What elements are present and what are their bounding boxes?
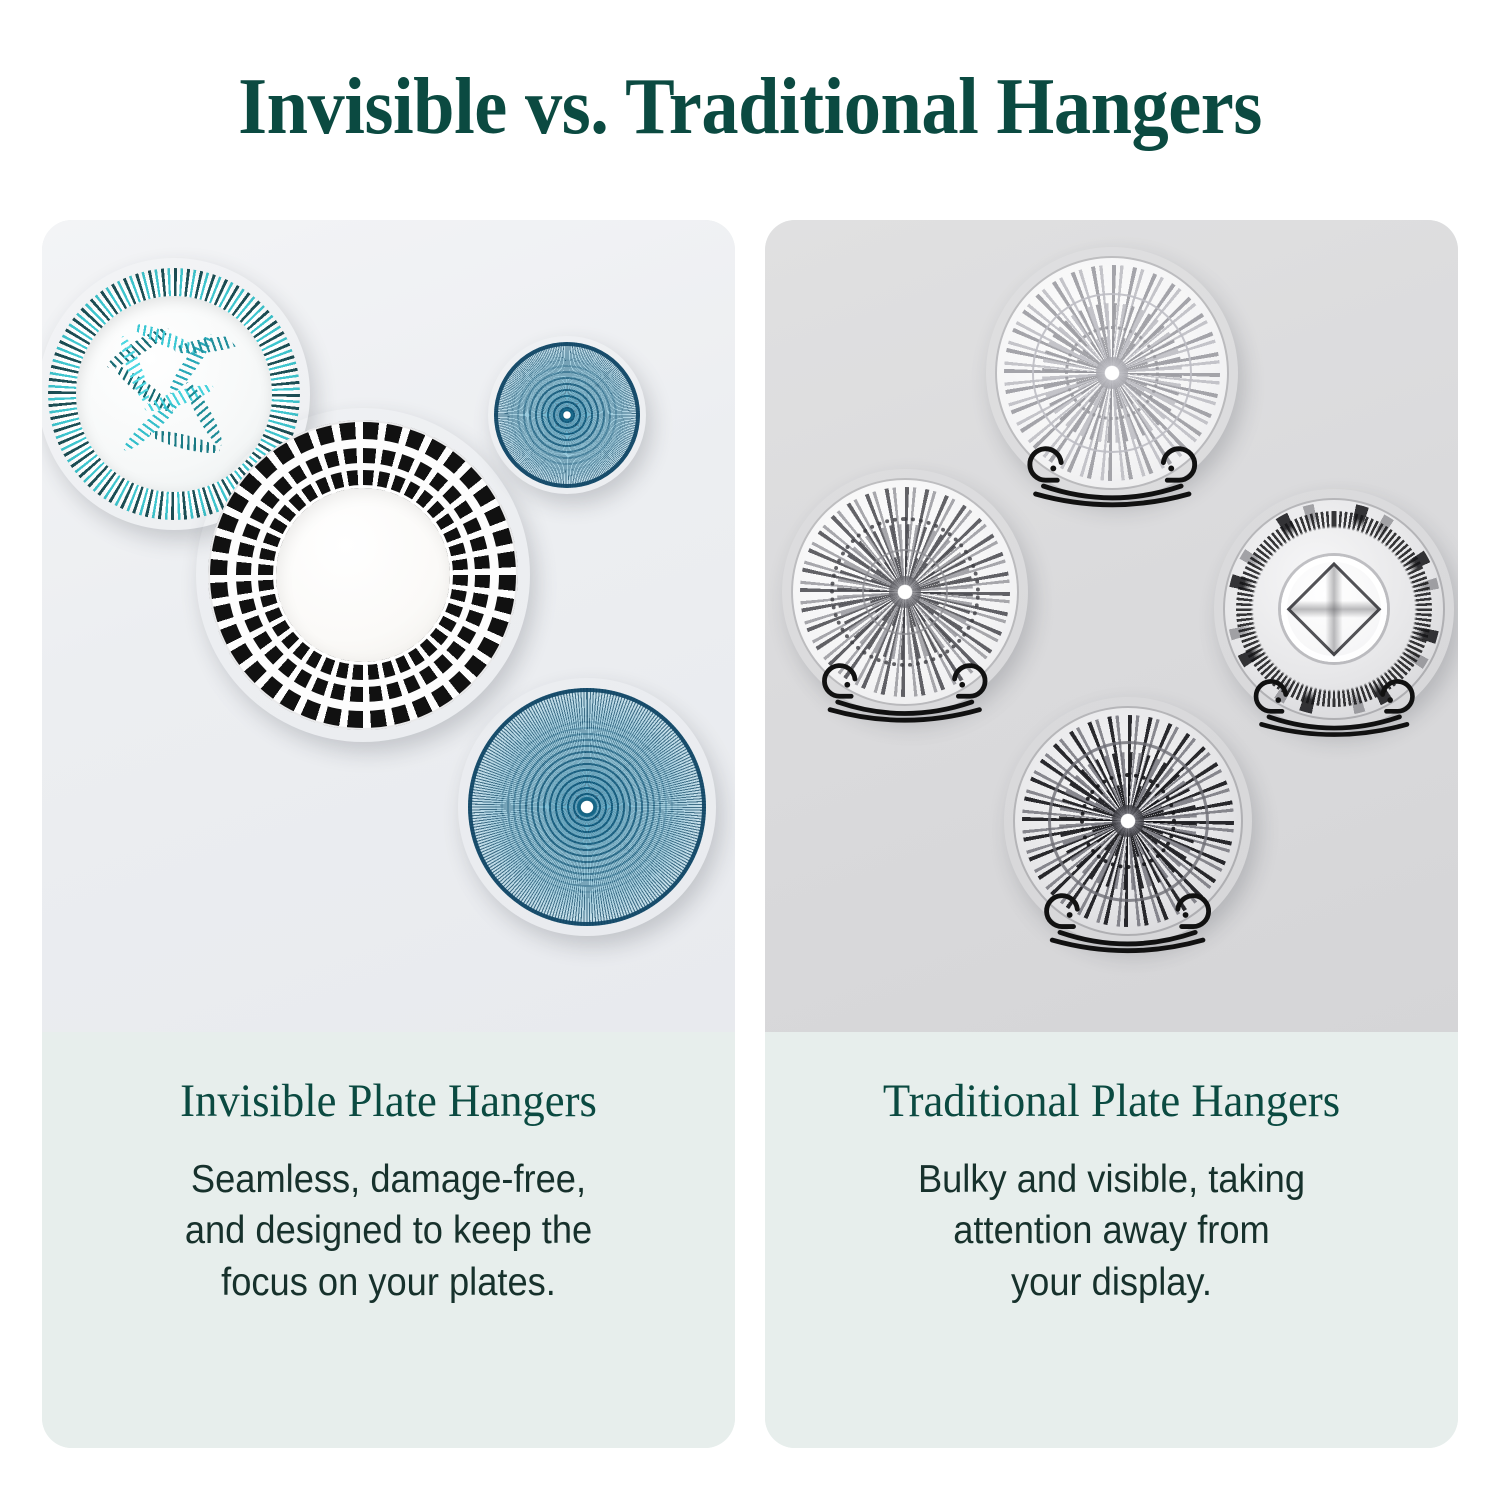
plate-hub [561, 409, 573, 421]
card-traditional-hangers: Traditional Plate Hangers Bulky and visi… [765, 220, 1458, 1448]
caption-title: Invisible Plate Hangers [92, 1076, 686, 1128]
palm-leaf-pattern [96, 316, 252, 472]
caption-traditional: Traditional Plate Hangers Bulky and visi… [765, 1032, 1458, 1448]
mandala-plate-top [995, 256, 1229, 490]
comparison-infographic: Invisible vs. Traditional Hangers [0, 0, 1500, 1500]
geometric-diamond-plate [208, 420, 518, 730]
caption-line: attention away from [821, 1205, 1402, 1256]
caption-line: Bulky and visible, taking [821, 1154, 1402, 1205]
small-blue-radial-plate [494, 342, 640, 488]
caption-line: Seamless, damage-free, [98, 1154, 679, 1205]
card-invisible-hangers: Invisible Plate Hangers Seamless, damage… [42, 220, 735, 1448]
mandala-plate-bottom [1013, 706, 1243, 936]
plate-hub [577, 797, 596, 816]
caption-invisible: Invisible Plate Hangers Seamless, damage… [42, 1032, 735, 1448]
comparison-cards: Invisible Plate Hangers Seamless, damage… [42, 220, 1458, 1448]
mandala-plate-left [791, 478, 1019, 706]
caption-body: Bulky and visible, taking attention away… [821, 1154, 1402, 1308]
large-blue-radial-plate [468, 688, 706, 926]
caption-line: and designed to keep the [98, 1205, 679, 1256]
mandala-core [1112, 805, 1144, 837]
page-title: Invisible vs. Traditional Hangers [53, 62, 1448, 153]
photo-invisible-plates [42, 220, 735, 1032]
caption-line: focus on your plates. [98, 1257, 679, 1308]
caption-body: Seamless, damage-free, and designed to k… [98, 1154, 679, 1308]
mandala-core [889, 576, 921, 608]
caption-line: your display. [821, 1257, 1402, 1308]
photo-traditional-plates [765, 220, 1458, 1032]
baroque-plate-right [1223, 498, 1445, 720]
caption-title: Traditional Plate Hangers [815, 1076, 1409, 1128]
plate-center [276, 488, 450, 662]
